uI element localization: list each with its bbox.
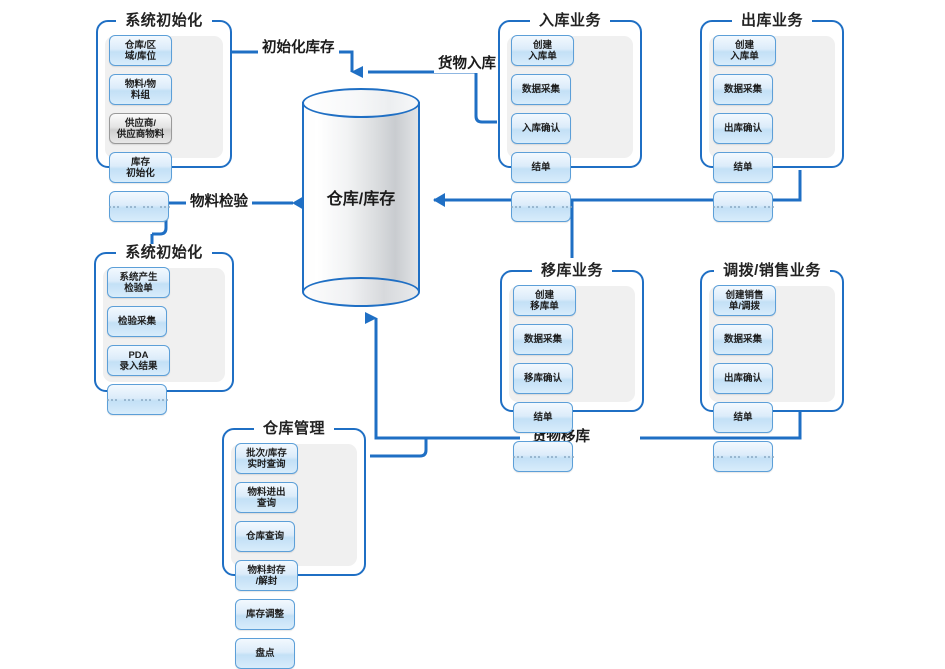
connector-goods-transfer (376, 318, 520, 438)
cell-item[interactable]: 系统产生检验单 (107, 267, 170, 298)
cell-label: 系统产生检验单 (119, 272, 157, 294)
group-inbound-business[interactable]: 入库业务 创建入库单数据采集入库确认结单 (498, 20, 642, 168)
cell-item[interactable]: 数据采集 (713, 324, 773, 355)
cell-label: 创建入库单 (730, 40, 759, 62)
cell-item[interactable]: 入库确认 (511, 113, 571, 144)
cell-placeholder[interactable] (513, 441, 573, 472)
cell-item[interactable]: 盘点 (235, 638, 295, 669)
cylinder-label: 仓库/库存 (302, 88, 420, 306)
placeholder-dots-icon (109, 206, 170, 208)
cell-label: 库存调整 (246, 609, 284, 620)
cell-label: 物料封存/解封 (247, 565, 285, 587)
cell-label: 数据采集 (524, 334, 562, 345)
diagram-canvas: 初始化库存 货物入库 物料检验 货物移库 仓库/库存 系统初始化 仓库/区域/库… (0, 0, 945, 588)
group-cells: 创建销售单/调拨数据采集出库确认结单 (702, 272, 842, 410)
cell-label: 移库确认 (524, 373, 562, 384)
placeholder-dots-icon (713, 456, 774, 458)
cell-label: 出库确认 (724, 123, 762, 134)
cell-item[interactable]: 结单 (713, 402, 773, 433)
group-cells: 仓库/区域/库位物料/物料组供应商/供应商物料库存初始化 (98, 22, 230, 166)
cell-item[interactable]: 数据采集 (513, 324, 573, 355)
placeholder-dots-icon (511, 206, 572, 208)
cell-label: 结单 (733, 412, 752, 423)
cell-item[interactable]: 创建入库单 (713, 35, 776, 66)
cell-label: 创建销售单/调拨 (725, 290, 763, 312)
cell-label: 检验采集 (118, 316, 156, 327)
group-warehouse-management[interactable]: 仓库管理 批次/库存实时查询物料进出查询仓库查询物料封存/解封库存调整盘点 (222, 428, 366, 576)
cell-item[interactable]: 出库确认 (713, 113, 773, 144)
connector-warehouse-mgmt (370, 438, 426, 456)
cell-item[interactable]: 库存调整 (235, 599, 295, 630)
group-cells: 创建入库单数据采集入库确认结单 (500, 22, 640, 166)
group-cells: 创建移库单数据采集移库确认结单 (502, 272, 642, 410)
cell-item[interactable]: 创建销售单/调拨 (713, 285, 776, 316)
cell-item[interactable]: 批次/库存实时查询 (235, 443, 298, 474)
cell-item[interactable]: 数据采集 (713, 74, 773, 105)
cell-item[interactable]: 结单 (513, 402, 573, 433)
cell-label: 盘点 (255, 648, 274, 659)
cell-label: 供应商/供应商物料 (117, 118, 165, 140)
cell-label: 结单 (531, 162, 550, 173)
group-cells: 创建入库单数据采集出库确认结单 (702, 22, 842, 166)
cell-placeholder[interactable] (107, 384, 167, 415)
placeholder-dots-icon (513, 456, 574, 458)
group-cells: 系统产生检验单检验采集PDA录入结果 (96, 254, 232, 390)
cell-label: 结单 (733, 162, 752, 173)
cell-label: 物料/物料组 (125, 79, 156, 101)
cell-item[interactable]: 数据采集 (511, 74, 571, 105)
cell-item[interactable]: 物料/物料组 (109, 74, 172, 105)
cell-item[interactable]: 结单 (511, 152, 571, 183)
flow-label-material-inspection: 物料检验 (186, 190, 252, 211)
placeholder-dots-icon (713, 206, 774, 208)
cell-label: 批次/库存实时查询 (246, 448, 287, 470)
cell-item[interactable]: 供应商/供应商物料 (109, 113, 172, 144)
cell-label: 仓库查询 (246, 531, 284, 542)
cell-item[interactable]: PDA录入结果 (107, 345, 170, 376)
cell-placeholder[interactable] (713, 441, 773, 472)
cell-label: 入库确认 (522, 123, 560, 134)
warehouse-inventory-cylinder: 仓库/库存 (302, 88, 420, 306)
cell-item[interactable]: 创建入库单 (511, 35, 574, 66)
cell-label: 结单 (533, 412, 552, 423)
cell-item[interactable]: 移库确认 (513, 363, 573, 394)
cell-item[interactable]: 库存初始化 (109, 152, 172, 183)
cell-item[interactable]: 物料封存/解封 (235, 560, 298, 591)
cell-placeholder[interactable] (511, 191, 571, 222)
cell-item[interactable]: 检验采集 (107, 306, 167, 337)
cell-label: 仓库/区域/库位 (125, 40, 156, 62)
flow-label-init-inventory: 初始化库存 (258, 36, 339, 57)
group-system-init-top[interactable]: 系统初始化 仓库/区域/库位物料/物料组供应商/供应商物料库存初始化 (96, 20, 232, 168)
cell-item[interactable]: 结单 (713, 152, 773, 183)
cell-item[interactable]: 物料进出查询 (235, 482, 298, 513)
cell-label: 数据采集 (724, 84, 762, 95)
group-allocation-sales-business[interactable]: 调拨/销售业务 创建销售单/调拨数据采集出库确认结单 (700, 270, 844, 412)
cell-label: 出库确认 (724, 373, 762, 384)
cell-label: 数据采集 (522, 84, 560, 95)
cell-label: 创建入库单 (528, 40, 557, 62)
placeholder-dots-icon (107, 399, 168, 401)
cell-item[interactable]: 创建移库单 (513, 285, 576, 316)
flow-label-goods-inbound: 货物入库 (434, 52, 500, 73)
cell-item[interactable]: 出库确认 (713, 363, 773, 394)
cell-placeholder[interactable] (713, 191, 773, 222)
group-outbound-business[interactable]: 出库业务 创建入库单数据采集出库确认结单 (700, 20, 844, 168)
cell-placeholder[interactable] (109, 191, 169, 222)
group-cells: 批次/库存实时查询物料进出查询仓库查询物料封存/解封库存调整盘点 (224, 430, 364, 574)
cell-label: 库存初始化 (126, 157, 155, 179)
cell-label: PDA录入结果 (119, 350, 157, 372)
cell-item[interactable]: 仓库查询 (235, 521, 295, 552)
group-system-init-bottom[interactable]: 系统初始化 系统产生检验单检验采集PDA录入结果 (94, 252, 234, 392)
cell-item[interactable]: 仓库/区域/库位 (109, 35, 172, 66)
cell-label: 数据采集 (724, 334, 762, 345)
cell-label: 物料进出查询 (247, 487, 285, 509)
cell-label: 创建移库单 (530, 290, 559, 312)
group-transfer-business[interactable]: 移库业务 创建移库单数据采集移库确认结单 (500, 270, 644, 412)
